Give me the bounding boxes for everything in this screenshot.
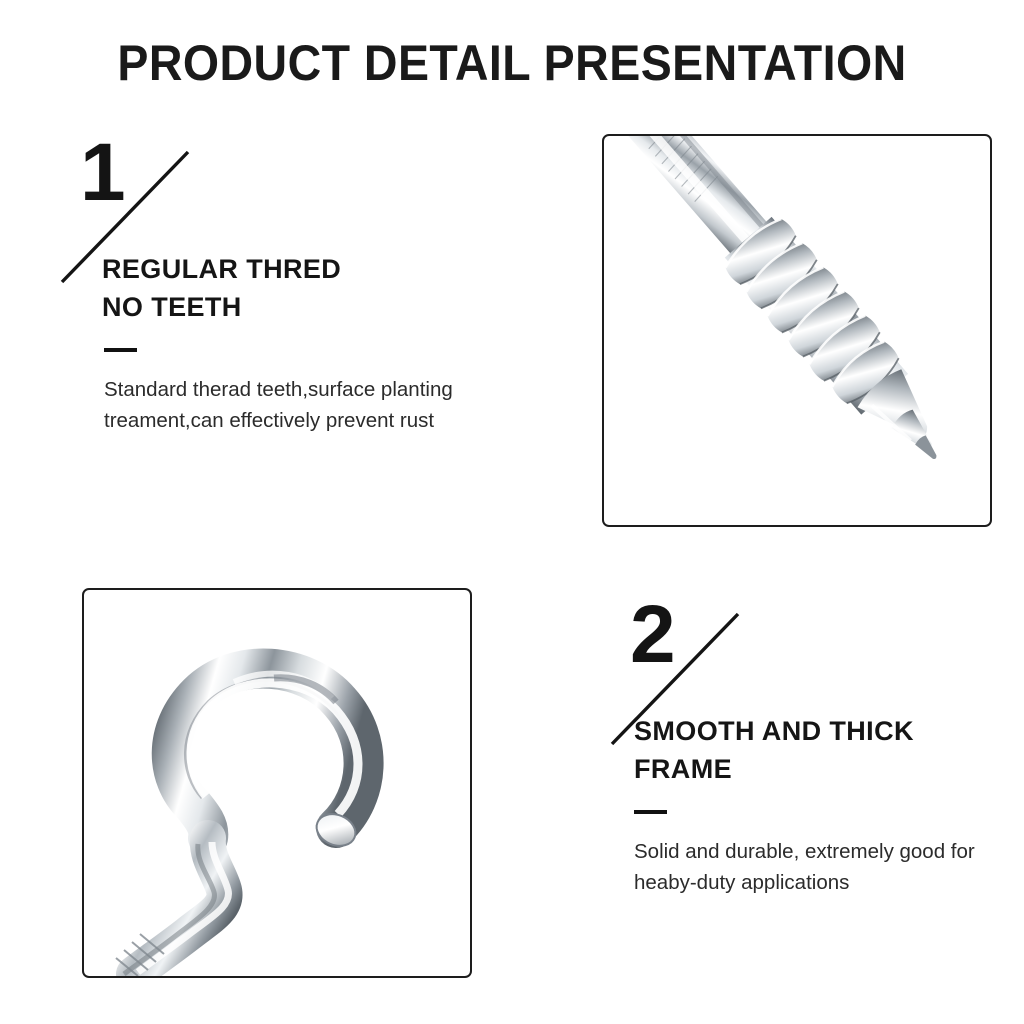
product-photo-frame-hook <box>82 588 472 978</box>
feature-2-heading: SMOOTH AND THICK FRAME <box>634 712 1024 788</box>
feature-1-number: 1 <box>80 132 125 214</box>
feature-2-body-text: Solid and durable, extremely good for he… <box>634 836 1024 898</box>
feature-1-heading: REGULAR THRED NO TEETH <box>102 250 498 326</box>
feature-2-heading-line-2: FRAME <box>634 750 1024 788</box>
feature-block-1: 1 REGULAR THRED NO TEETH Standard therad… <box>58 138 498 436</box>
feature-2-heading-line-1: SMOOTH AND THICK <box>634 712 1024 750</box>
feature-1-divider <box>104 348 137 352</box>
page-title: PRODUCT DETAIL PRESENTATION <box>36 34 988 92</box>
product-detail-page: PRODUCT DETAIL PRESENTATION 1 REGULAR TH… <box>0 0 1024 1024</box>
screw-thread-photo <box>604 136 990 525</box>
feature-1-heading-line-2: NO TEETH <box>102 288 498 326</box>
feature-1-heading-line-1: REGULAR THRED <box>102 250 498 288</box>
feature-2-divider <box>634 810 667 814</box>
feature-2-number: 2 <box>630 594 675 676</box>
feature-block-2: 2 SMOOTH AND THICK FRAME Solid and durab… <box>608 600 1024 898</box>
product-photo-frame-screw <box>602 134 992 527</box>
chrome-hook-photo <box>84 590 470 976</box>
feature-1-body-text: Standard therad teeth,surface planting t… <box>104 374 494 436</box>
